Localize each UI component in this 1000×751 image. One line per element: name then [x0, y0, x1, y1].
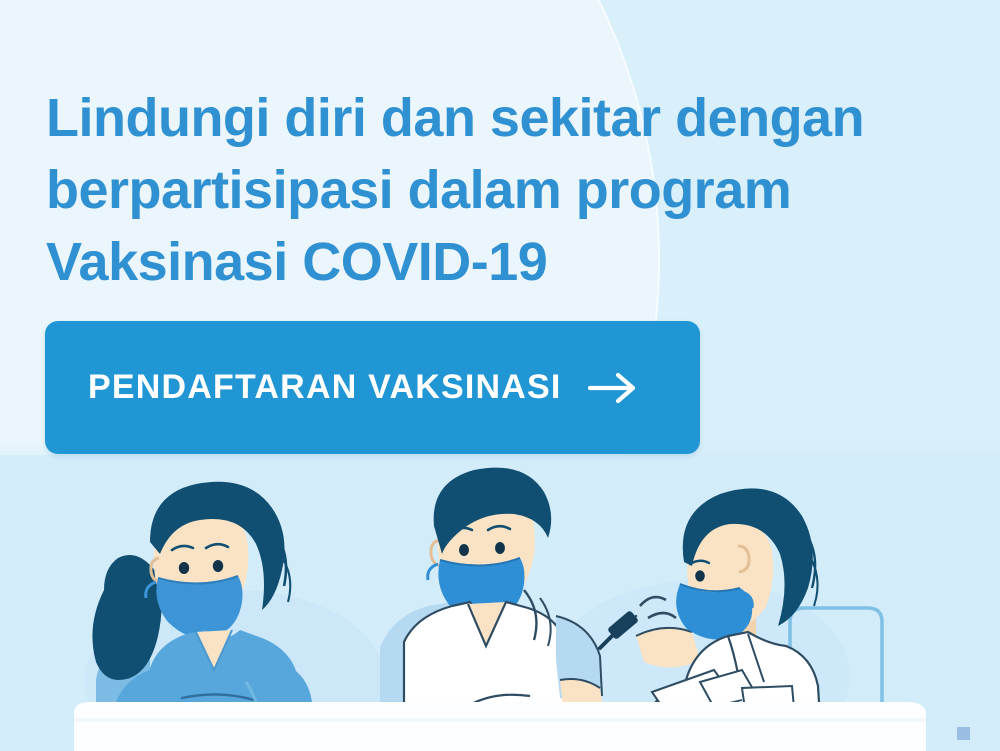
vaccination-banner: Lindungi diri dan sekitar dengan berpart…: [0, 0, 1000, 751]
vaccination-registration-label: PENDAFTARAN VAKSINASI: [88, 368, 562, 407]
arrow-right-icon: [588, 371, 640, 405]
headline-line-2: berpartisipasi dalam program: [46, 154, 946, 226]
headline-line-1: Lindungi diri dan sekitar dengan: [46, 82, 946, 154]
vaccination-illustration: [0, 430, 1000, 751]
headline-line-3: Vaksinasi COVID-19: [46, 226, 946, 298]
decorative-square: [957, 727, 970, 740]
page-title: Lindungi diri dan sekitar dengan berpart…: [46, 82, 946, 298]
